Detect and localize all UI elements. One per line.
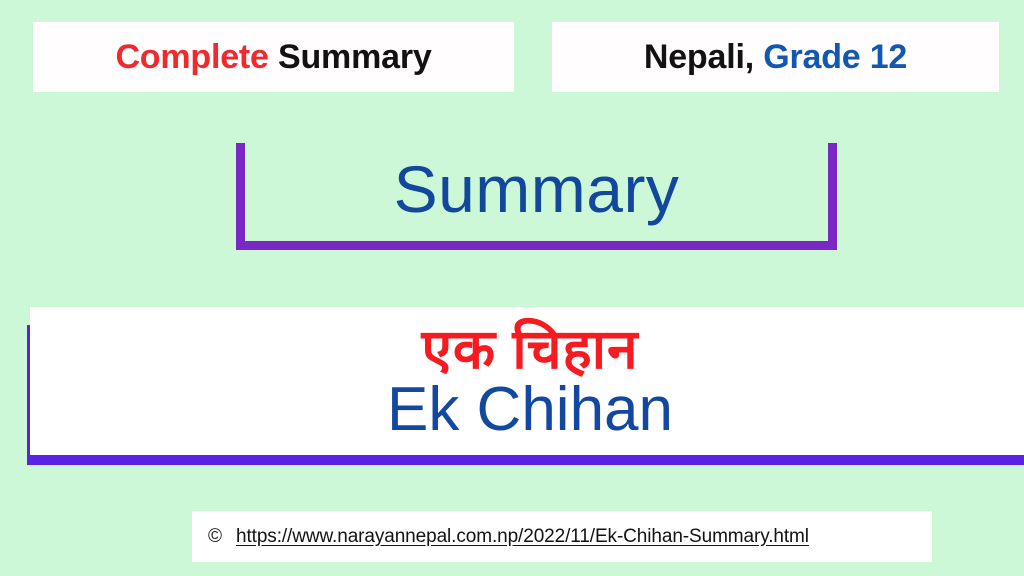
header-chip-left-word-complete: Complete — [115, 40, 268, 74]
title-panel: एक चिहान Ek Chihan — [30, 307, 1024, 455]
header-chip-left-spacer — [269, 40, 278, 74]
summary-label: Summary — [394, 156, 680, 222]
title-devanagari: एक चिहान — [421, 322, 638, 377]
copyright-icon: © — [208, 527, 222, 546]
header-chip-complete-summary: Complete Summary — [33, 22, 514, 92]
source-url-link[interactable]: https://www.narayannepal.com.np/2022/11/… — [236, 526, 809, 548]
header-chip-right-spacer — [754, 40, 763, 74]
summary-bracket-frame: Summary — [236, 143, 837, 250]
title-romanized: Ek Chihan — [387, 379, 673, 441]
header-chip-subject-grade: Nepali, Grade 12 — [552, 22, 999, 92]
header-chip-right-word-grade: Grade 12 — [763, 40, 907, 74]
header-chip-right-word-nepali: Nepali, — [644, 40, 754, 74]
footer-source-box: © https://www.narayannepal.com.np/2022/1… — [192, 511, 932, 562]
slide-canvas: Complete Summary Nepali, Grade 12 Summar… — [0, 0, 1024, 576]
header-chip-left-word-summary: Summary — [278, 40, 432, 74]
